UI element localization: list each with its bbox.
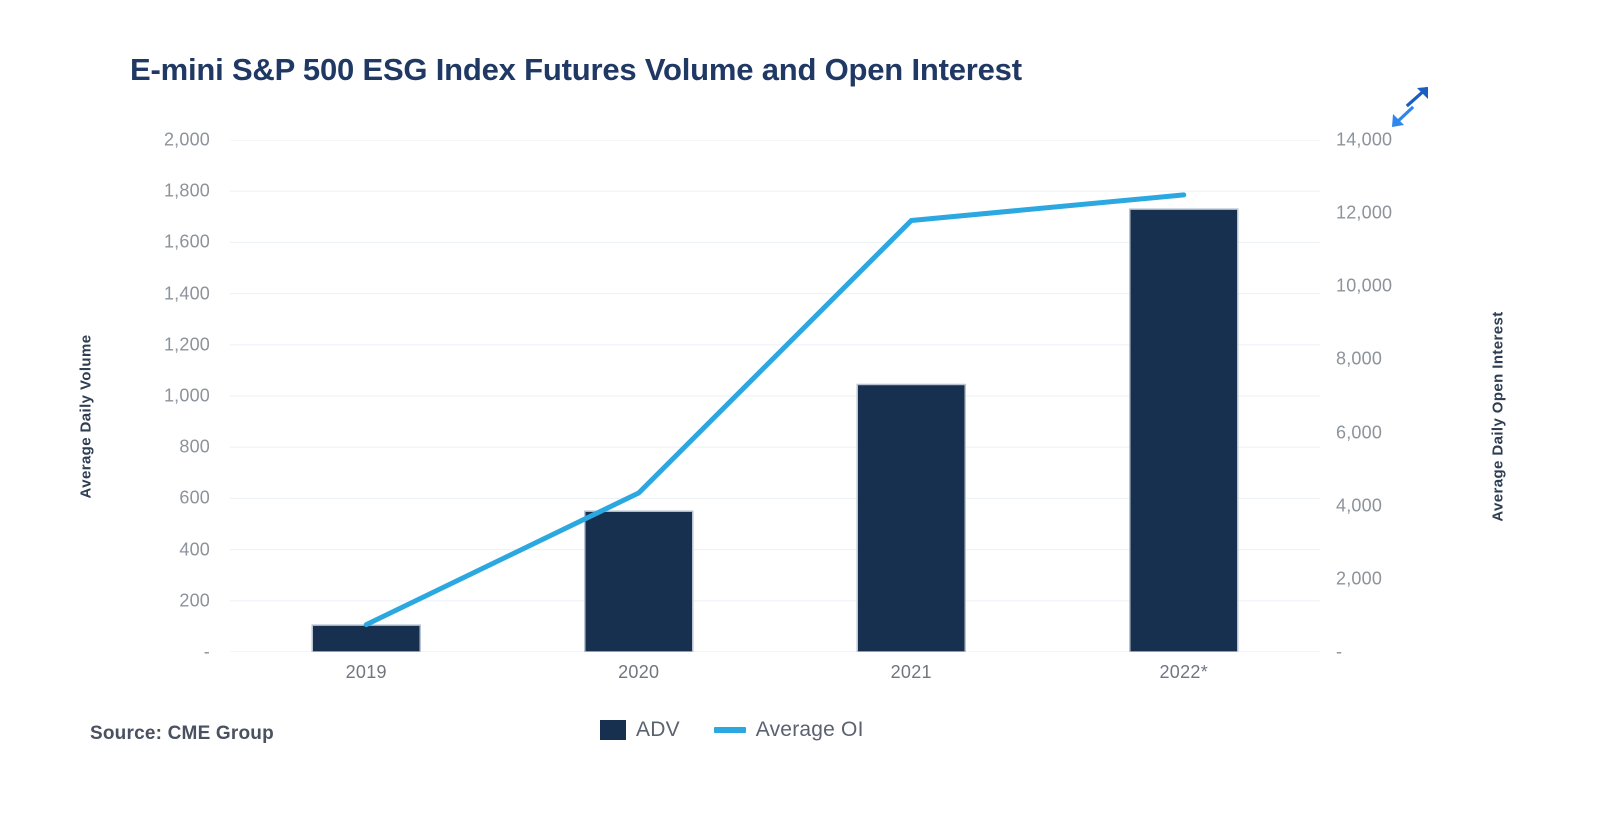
chart-legend: ADV Average OI xyxy=(600,718,864,742)
y-axis-left-tick-label: 1,600 xyxy=(100,232,210,253)
x-axis-tick-label: 2022* xyxy=(1159,662,1208,683)
source-note: Source: CME Group xyxy=(90,723,274,745)
y-axis-left-tick-label: 1,400 xyxy=(100,283,210,304)
plot-svg xyxy=(230,140,1320,652)
chart-figure: E-mini S&P 500 ESG Index Futures Volume … xyxy=(0,0,1600,827)
legend-swatch-line-icon xyxy=(714,727,746,733)
y-axis-right-tick-label: 2,000 xyxy=(1336,568,1466,589)
y-axis-right-ticks: -2,0004,0006,0008,00010,00012,00014,000 xyxy=(1336,140,1466,652)
y-axis-right-tick-label: 10,000 xyxy=(1336,276,1466,297)
bar-2019 xyxy=(312,625,420,652)
x-axis-tick-label: 2020 xyxy=(618,662,659,683)
bar-2022 xyxy=(1130,209,1238,652)
x-axis-tick-label: 2021 xyxy=(891,662,932,683)
y-axis-right-tick-label: 14,000 xyxy=(1336,130,1466,151)
legend-item-adv[interactable]: ADV xyxy=(600,718,680,742)
y-axis-left-tick-label: 1,800 xyxy=(100,181,210,202)
y-axis-right-title: Average Daily Open Interest xyxy=(1490,277,1507,557)
y-axis-left-tick-label: 1,200 xyxy=(100,334,210,355)
y-axis-right-tick-label: 6,000 xyxy=(1336,422,1466,443)
y-axis-left-tick-label: - xyxy=(100,642,210,663)
plot-area xyxy=(230,140,1320,652)
y-axis-left-tick-label: 1,000 xyxy=(100,386,210,407)
y-axis-left-tick-label: 800 xyxy=(100,437,210,458)
y-axis-left-title: Average Daily Volume xyxy=(78,307,95,527)
legend-item-average-oi[interactable]: Average OI xyxy=(714,718,864,742)
y-axis-left-tick-label: 200 xyxy=(100,590,210,611)
y-axis-right-tick-label: 12,000 xyxy=(1336,203,1466,224)
y-axis-left-tick-label: 400 xyxy=(100,539,210,560)
bar-2020 xyxy=(585,511,693,652)
y-axis-right-tick-label: - xyxy=(1336,642,1466,663)
page-title: E-mini S&P 500 ESG Index Futures Volume … xyxy=(130,52,1022,88)
y-axis-right-tick-label: 4,000 xyxy=(1336,495,1466,516)
y-axis-right-tick-label: 8,000 xyxy=(1336,349,1466,370)
y-axis-left-ticks: -2004006008001,0001,2001,4001,6001,8002,… xyxy=(100,140,210,652)
expand-arrows-icon[interactable] xyxy=(1386,86,1434,132)
line-series-average-oi xyxy=(366,195,1184,625)
legend-label-average-oi: Average OI xyxy=(756,718,864,742)
x-axis-tick-label: 2019 xyxy=(346,662,387,683)
bar-2021 xyxy=(857,384,965,652)
legend-swatch-bar-icon xyxy=(600,720,626,740)
y-axis-left-tick-label: 600 xyxy=(100,488,210,509)
legend-label-adv: ADV xyxy=(636,718,680,742)
line-path-average-oi xyxy=(366,195,1184,625)
y-axis-left-tick-label: 2,000 xyxy=(100,130,210,151)
